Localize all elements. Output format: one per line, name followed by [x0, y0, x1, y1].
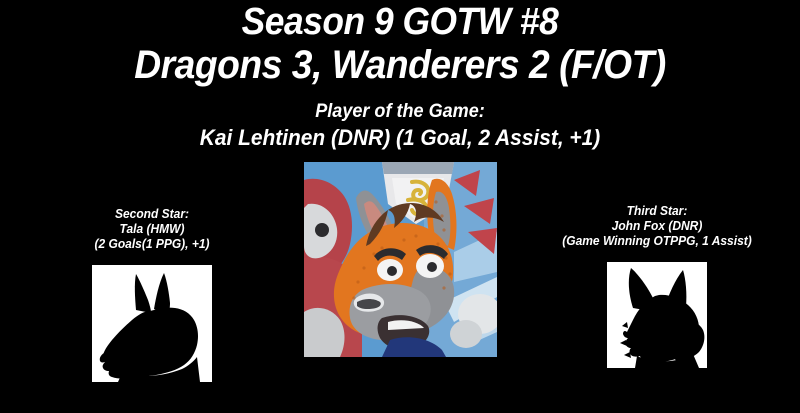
third-star-rank: Third Star: [545, 204, 770, 219]
third-star-photo [607, 262, 707, 368]
second-star-photo [92, 265, 212, 382]
third-star-name: John Fox (DNR) [545, 219, 770, 234]
second-star-rank: Second Star: [56, 207, 248, 222]
fox-character-artwork [304, 162, 497, 357]
player-of-the-game-name: Kai Lehtinen (DNR) (1 Goal, 2 Assist, +1… [20, 124, 780, 151]
headline-line-1: Season 9 GOTW #8 [28, 0, 772, 43]
headline-line-2: Dragons 3, Wanderers 2 (F/OT) [28, 43, 772, 87]
third-star-stats: (Game Winning OTPPG, 1 Assist) [545, 234, 770, 249]
second-star-stats: (2 Goals(1 PPG), +1) [56, 237, 248, 252]
canine-silhouette-left-icon [92, 265, 212, 382]
second-star-caption: Second Star: Tala (HMW) (2 Goals(1 PPG),… [52, 207, 252, 252]
player-of-the-game-photo [304, 162, 497, 357]
player-of-the-game-label: Player of the Game: [20, 100, 780, 124]
gotw-graphic: Season 9 GOTW #8 Dragons 3, Wanderers 2 … [0, 0, 800, 413]
player-of-the-game-block: Player of the Game: Kai Lehtinen (DNR) (… [0, 100, 800, 151]
second-star-name: Tala (HMW) [56, 222, 248, 237]
third-star-caption: Third Star: John Fox (DNR) (Game Winning… [540, 204, 774, 249]
canine-silhouette-right-icon [607, 262, 707, 368]
headline-block: Season 9 GOTW #8 Dragons 3, Wanderers 2 … [0, 0, 800, 87]
